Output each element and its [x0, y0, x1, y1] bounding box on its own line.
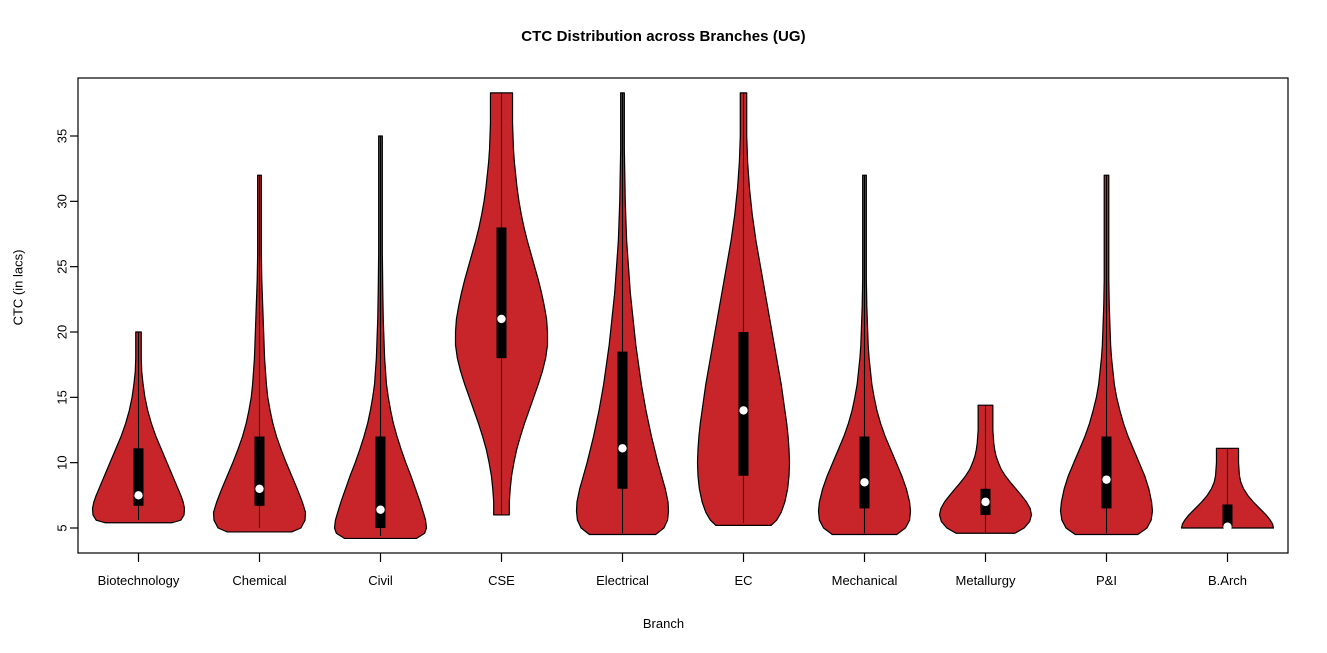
median-point	[1223, 522, 1231, 530]
violin-plot-page: CTC Distribution across Branches (UG) CT…	[0, 0, 1327, 653]
x-tick-label-biotechnology: Biotechnology	[98, 573, 180, 588]
iqr-box	[1102, 437, 1112, 509]
median-point	[981, 498, 989, 506]
median-point	[860, 478, 868, 486]
y-tick-label: 30	[55, 194, 70, 208]
chart-canvas: 5101520253035BiotechnologyChemicalCivilC…	[0, 0, 1327, 653]
x-tick-label-mechanical: Mechanical	[832, 573, 898, 588]
x-tick-label-p-i: P&I	[1096, 573, 1117, 588]
violin-electrical[interactable]	[577, 93, 669, 535]
violin-b-arch[interactable]	[1182, 448, 1274, 531]
y-tick-label: 20	[55, 325, 70, 339]
median-point	[739, 406, 747, 414]
x-tick-label-electrical: Electrical	[596, 573, 649, 588]
violin-civil[interactable]	[335, 136, 427, 538]
y-tick-label: 35	[55, 129, 70, 143]
x-tick-label-ec: EC	[734, 573, 752, 588]
x-tick-label-chemical: Chemical	[232, 573, 286, 588]
median-point	[376, 506, 384, 514]
iqr-box	[255, 437, 265, 506]
x-tick-label-b-arch: B.Arch	[1208, 573, 1247, 588]
violin-biotechnology[interactable]	[93, 332, 185, 523]
x-tick-label-cse: CSE	[488, 573, 515, 588]
violin-mechanical[interactable]	[819, 175, 911, 534]
y-tick-label: 15	[55, 390, 70, 404]
iqr-box	[376, 437, 386, 528]
median-point	[497, 315, 505, 323]
median-point	[618, 444, 626, 452]
iqr-box	[739, 332, 749, 476]
median-point	[1102, 475, 1110, 483]
violin-p-i[interactable]	[1061, 175, 1153, 534]
violins-layer	[93, 93, 1274, 539]
iqr-box	[497, 227, 507, 358]
violin-chart-svg: 5101520253035BiotechnologyChemicalCivilC…	[0, 0, 1327, 653]
iqr-box	[860, 437, 870, 509]
median-point	[255, 485, 263, 493]
violin-chemical[interactable]	[214, 175, 306, 532]
iqr-box	[618, 352, 628, 489]
violin-cse[interactable]	[456, 93, 548, 515]
violin-metallurgy[interactable]	[940, 405, 1032, 533]
x-tick-label-metallurgy: Metallurgy	[956, 573, 1016, 588]
y-tick-label: 5	[55, 524, 70, 531]
median-point	[134, 491, 142, 499]
violin-ec[interactable]	[698, 93, 790, 526]
y-tick-label: 10	[55, 455, 70, 469]
x-tick-label-civil: Civil	[368, 573, 393, 588]
y-tick-label: 25	[55, 259, 70, 273]
